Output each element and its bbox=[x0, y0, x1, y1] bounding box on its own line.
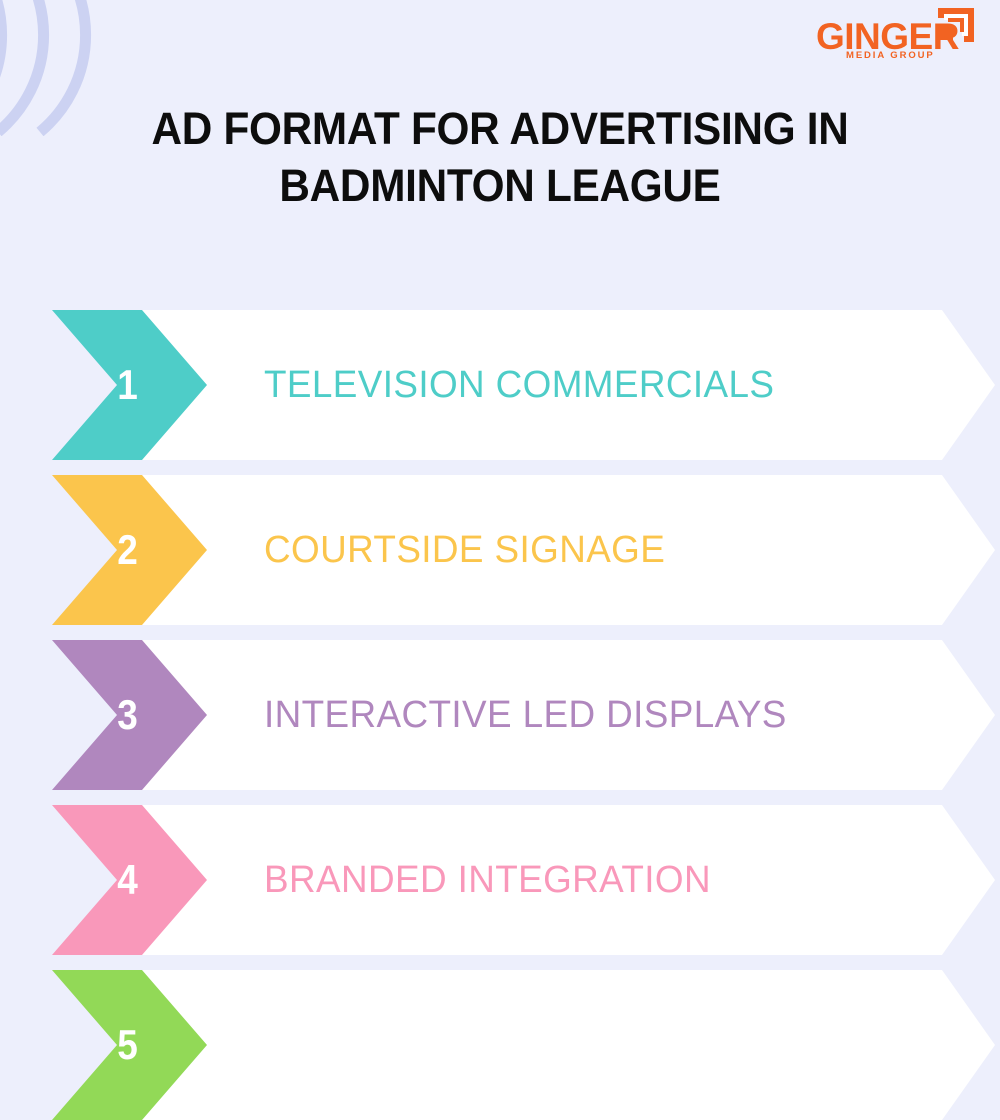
row-label: INTERACTIVE LED DISPLAYS bbox=[264, 640, 787, 790]
row-label: BRANDED INTEGRATION bbox=[264, 805, 711, 955]
row-label: COURTSIDE SIGNAGE bbox=[264, 475, 665, 625]
list-item[interactable]: 5 bbox=[0, 970, 1000, 1120]
ad-format-list: 1 TELEVISION COMMERCIALS 2 COURTSIDE SIG… bbox=[0, 0, 1000, 1000]
list-item[interactable]: 1 TELEVISION COMMERCIALS bbox=[0, 310, 1000, 460]
row-label: TELEVISION COMMERCIALS bbox=[264, 310, 774, 460]
list-item[interactable]: 4 BRANDED INTEGRATION bbox=[0, 805, 1000, 955]
list-item[interactable]: 2 COURTSIDE SIGNAGE bbox=[0, 475, 1000, 625]
row-band bbox=[120, 970, 995, 1120]
list-item[interactable]: 3 INTERACTIVE LED DISPLAYS bbox=[0, 640, 1000, 790]
